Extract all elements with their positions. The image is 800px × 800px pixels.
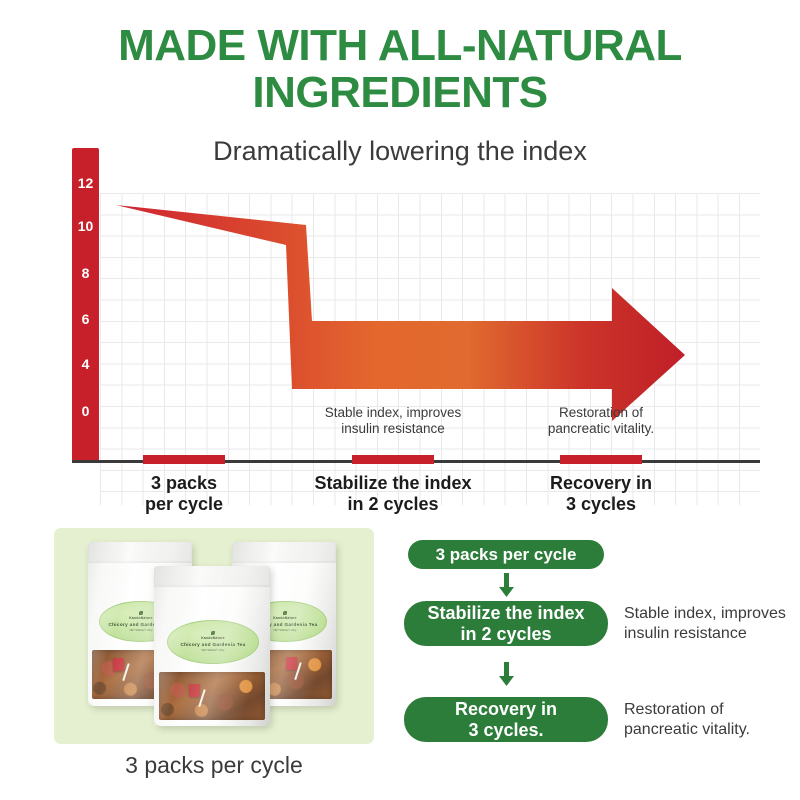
flow-step-3-note-line-1: Restoration of [624,700,794,720]
y-axis-bar: 12 10 8 6 4 0 [72,148,99,461]
flow-arrow-1-icon [498,573,515,598]
annotation-stabilize-line-1: Stable index, improves [303,405,483,421]
y-tick-6: 6 [72,312,99,326]
flow-step-3-label-line-2: 3 cycles. [455,720,557,741]
product-photo-caption: 3 packs per cycle [54,752,374,778]
pouch-net-weight: NET WEIGHT 100g [202,649,225,652]
x-tick-3 [560,455,642,464]
x-label-recovery: Recovery in 3 cycles [521,473,681,515]
x-label-stabilize: Stabilize the index in 2 cycles [293,473,493,515]
flow-step-2-note: Stable index, improves insulin resistanc… [624,604,794,644]
pouch-label-oval: KandoNature Chicory and Gardenia Tea NET… [167,620,259,664]
flow-step-1-label: 3 packs per cycle [436,545,577,564]
flow-step-3-pill: Recovery in 3 cycles. [404,697,608,742]
headline-line-2: INGREDIENTS [0,69,800,116]
down-arrow-icon [498,573,515,598]
x-label-3-packs-line-1: 3 packs [104,473,264,494]
pouch-product-name: Chicory and Gardenia Tea [180,642,245,648]
product-photo: KandoNature Chicory and Gardenia Tea NET… [54,528,374,744]
y-tick-0: 0 [72,404,99,418]
pouch-crimp [88,542,192,563]
trend-arrow-path [116,205,685,421]
tea-string [199,689,206,707]
x-label-stabilize-line-2: in 2 cycles [293,494,493,515]
product-pouch-front: KandoNature Chicory and Gardenia Tea NET… [154,566,270,726]
flow-step-3-note-line-2: pancreatic vitality. [624,720,794,740]
treatment-flow: 3 packs per cycle Stabilize the index in… [400,540,790,760]
flow-step-2-label-line-1: Stabilize the index [427,603,584,624]
down-arrow-icon [498,662,515,687]
x-tick-1 [143,455,225,464]
x-label-stabilize-line-1: Stabilize the index [293,473,493,494]
flow-step-3-label-line-1: Recovery in [455,699,557,720]
annotation-recovery-line-1: Restoration of [521,405,681,421]
y-tick-8: 8 [72,266,99,280]
flow-step-3-note: Restoration of pancreatic vitality. [624,700,794,740]
tea-tag [189,684,200,697]
y-tick-4: 4 [72,357,99,371]
annotation-recovery: Restoration of pancreatic vitality. [521,405,681,437]
index-trend-chart: 12 10 8 6 4 0 Stable index, improves ins… [0,145,800,520]
flow-step-2-note-line-1: Stable index, improves [624,604,794,624]
headline-line-1: MADE WITH ALL-NATURAL [118,21,682,70]
annotation-recovery-line-2: pancreatic vitality. [521,421,681,437]
x-label-recovery-line-1: Recovery in [521,473,681,494]
leaf-icon [283,611,287,615]
annotation-stabilize: Stable index, improves insulin resistanc… [303,405,483,437]
page-title: MADE WITH ALL-NATURAL INGREDIENTS [0,22,800,116]
flow-step-2-note-line-2: insulin resistance [624,624,794,644]
pouch-window [159,672,266,720]
infographic-page: MADE WITH ALL-NATURAL INGREDIENTS Dramat… [0,0,800,800]
x-label-3-packs-line-2: per cycle [104,494,264,515]
flow-arrow-2-icon [498,662,515,687]
flow-step-2-label-line-2: in 2 cycles [427,624,584,645]
pouch-brand: KandoNature [129,616,153,620]
annotation-stabilize-line-2: insulin resistance [303,421,483,437]
tea-tag [286,657,297,670]
x-label-3-packs: 3 packs per cycle [104,473,264,515]
pouch-net-weight: NET WEIGHT 100g [274,629,297,632]
pouch-crimp [154,566,270,587]
leaf-icon [139,611,143,615]
pouch-net-weight: NET WEIGHT 100g [130,629,153,632]
pouch-brand: KandoNature [201,636,225,640]
pouch-crimp [232,542,336,563]
x-tick-2 [352,455,434,464]
pouch-brand: KandoNature [273,616,297,620]
y-tick-12: 12 [72,176,99,190]
flow-step-1-pill: 3 packs per cycle [408,540,604,569]
leaf-icon [211,631,215,635]
flow-step-2-pill: Stabilize the index in 2 cycles [404,601,608,646]
y-tick-10: 10 [72,219,99,233]
tea-tag [113,658,124,671]
x-label-recovery-line-2: 3 cycles [521,494,681,515]
